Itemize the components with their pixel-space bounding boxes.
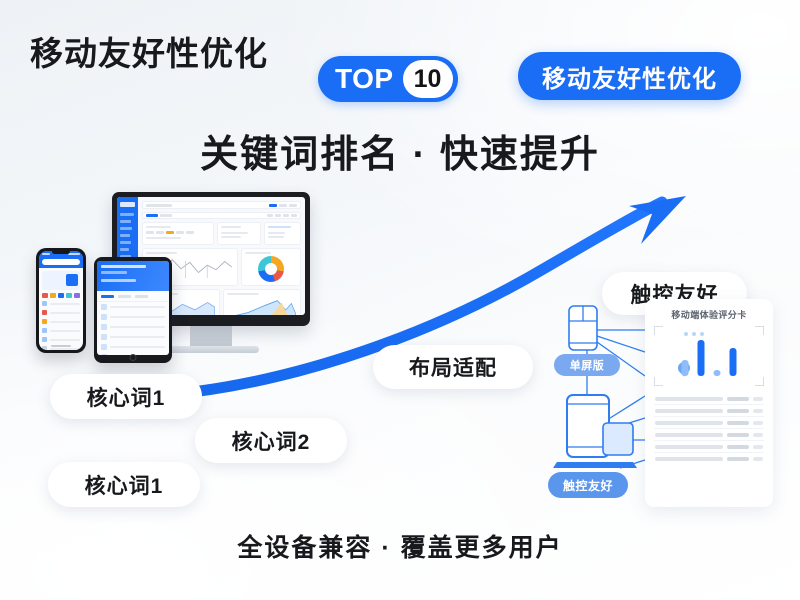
table-row <box>654 429 764 441</box>
node-pill-touch-friendly[interactable]: 触控友好 <box>548 472 628 498</box>
phone-notch <box>52 249 70 254</box>
node-pill-single-screen[interactable]: 单屏版 <box>554 354 620 376</box>
tablet-bezel <box>94 257 172 363</box>
top-rank-badge: TOP 10 <box>318 56 458 102</box>
phone-bezel <box>36 248 86 353</box>
table-row <box>654 405 764 417</box>
tablet-device-icon <box>94 257 172 363</box>
table-row <box>654 417 764 429</box>
score-card-chart <box>654 326 764 386</box>
footer-tagline: 全设备兼容 · 覆盖更多用户 <box>0 528 800 564</box>
donut-chart <box>258 256 284 282</box>
header-tag-pill: 移动友好性优化 <box>518 52 741 100</box>
device-mockups-group <box>30 192 340 392</box>
score-card-title: 移动端体验评分卡 <box>654 308 764 321</box>
phone-search-bar <box>42 259 80 265</box>
phone-home-indicator <box>51 345 71 347</box>
monitor-stand <box>190 324 232 348</box>
page-subtitle: 关键词排名 · 快速提升 <box>0 123 800 178</box>
keyword-pill-2[interactable]: 核心词2 <box>195 418 347 463</box>
phone-screen <box>39 251 83 350</box>
tablet-home-button <box>130 354 137 361</box>
layout-adaptation-pill[interactable]: 布局适配 <box>373 345 533 389</box>
table-row <box>654 441 764 453</box>
monitor-base <box>163 346 259 353</box>
smartphone-device-icon <box>36 248 86 353</box>
table-row <box>654 393 764 405</box>
top-badge-number: 10 <box>403 60 453 98</box>
tablet-screen <box>97 261 169 355</box>
touch-friendly-diagram: 单屏版 触控友好 移动端体验评分卡 <box>545 300 780 515</box>
keyword-pill-3[interactable]: 核心词1 <box>48 462 200 507</box>
page-title-left: 移动友好性优化 <box>30 27 268 75</box>
table-row <box>654 453 764 464</box>
poster-canvas: 移动友好性优化 TOP 10 移动友好性优化 关键词排名 · 快速提升 <box>0 0 800 600</box>
mobile-experience-score-card: 移动端体验评分卡 <box>645 299 773 507</box>
keyword-pill-1[interactable]: 核心词1 <box>50 374 202 419</box>
top-badge-word: TOP <box>335 63 394 95</box>
